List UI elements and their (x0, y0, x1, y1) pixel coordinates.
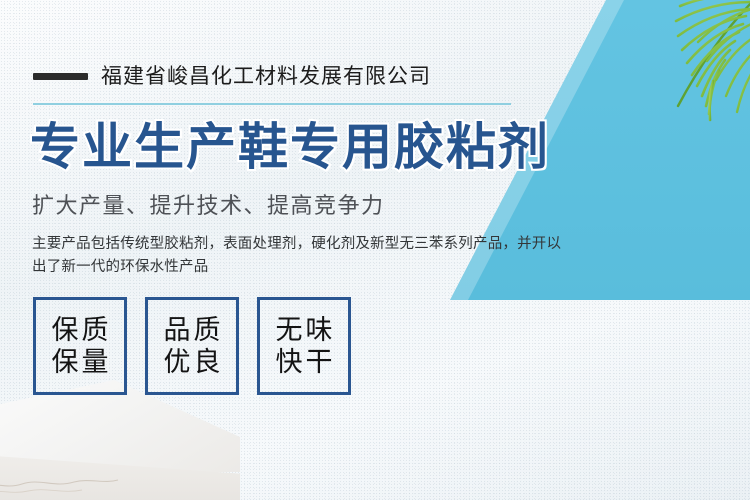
feature-badge-list: 保质 保量 品质 优良 无味 快干 (33, 297, 351, 395)
divider-rule (33, 103, 511, 105)
feature-badge-2: 品质 优良 (145, 297, 239, 395)
badge-2-line-2: 优良 (161, 347, 224, 377)
badge-1-line-2: 保量 (49, 347, 112, 377)
feature-badge-1: 保质 保量 (33, 297, 127, 395)
company-name: 福建省峻昌化工材料发展有限公司 (101, 66, 431, 87)
badge-1-line-1: 保质 (49, 315, 112, 345)
description-block: 主要产品包括传统型胶粘剂，表面处理剂，硬化剂及新型无三苯系列产品，并开以 出了新… (32, 233, 608, 280)
dash-icon (33, 73, 88, 80)
badge-3-line-2: 快干 (273, 347, 336, 377)
page-title: 专业生产鞋专用胶粘剂 (30, 122, 550, 172)
badge-3-line-1: 无味 (273, 315, 336, 345)
company-row: 福建省峻昌化工材料发展有限公司 (33, 66, 431, 87)
feature-badge-3: 无味 快干 (257, 297, 351, 395)
description-line-1: 主要产品包括传统型胶粘剂，表面处理剂，硬化剂及新型无三苯系列产品，并开以 (32, 233, 608, 256)
badge-2-line-1: 品质 (161, 315, 224, 345)
promo-banner: 福建省峻昌化工材料发展有限公司 专业生产鞋专用胶粘剂 专业生产鞋专用胶粘剂 扩大… (0, 0, 750, 500)
banner-content: 福建省峻昌化工材料发展有限公司 专业生产鞋专用胶粘剂 专业生产鞋专用胶粘剂 扩大… (0, 0, 750, 500)
subtitle: 扩大产量、提升技术、提高竞争力 (32, 195, 385, 217)
description-line-2: 出了新一代的环保水性产品 (32, 256, 608, 279)
